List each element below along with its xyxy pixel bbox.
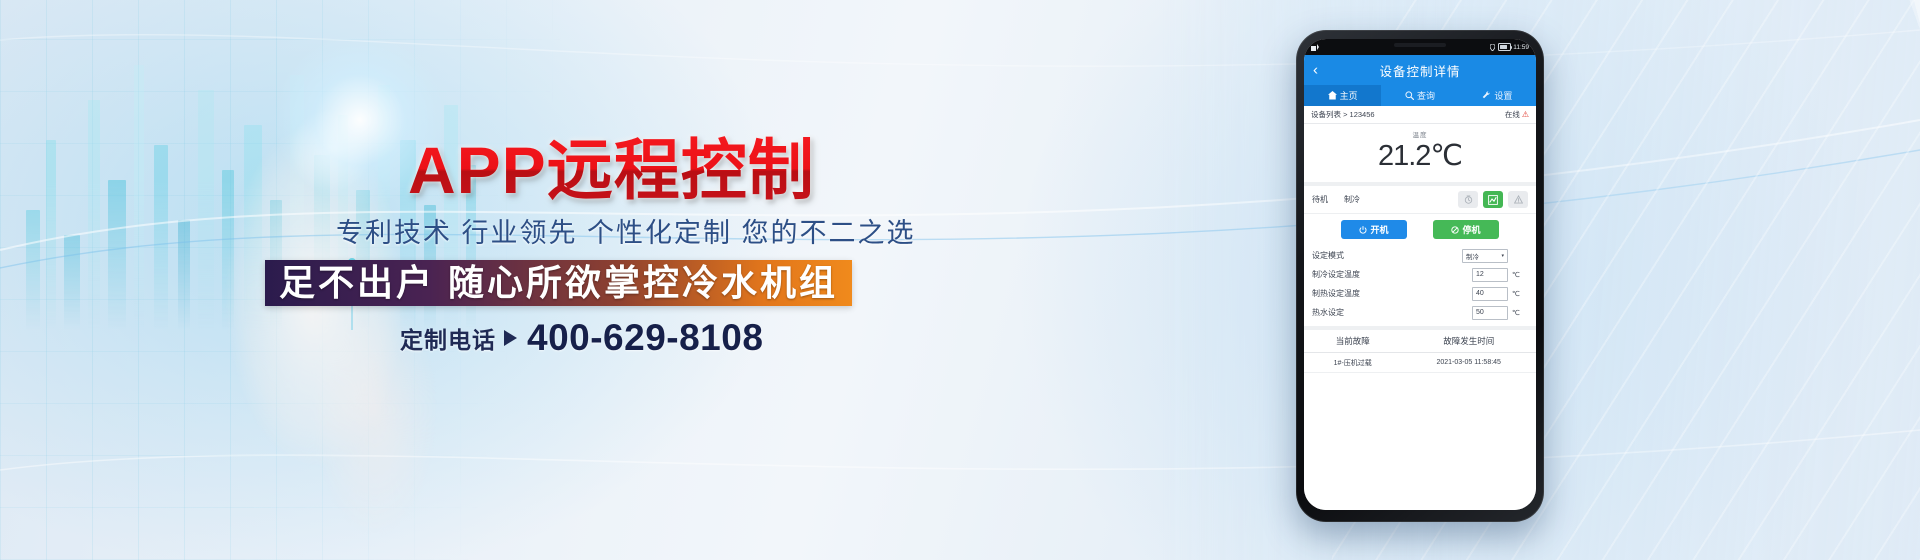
status-time: 11:59 <box>1513 44 1529 51</box>
setting-unit: ℃ <box>1508 309 1528 317</box>
timer-icon-button[interactable] <box>1458 191 1478 208</box>
chart-icon <box>1488 195 1498 205</box>
battery-icon <box>1498 43 1511 51</box>
heat-temp-input[interactable]: 40 <box>1472 287 1508 301</box>
setting-row-heat-temp: 制热设定温度 40 ℃ <box>1312 284 1528 303</box>
status-left <box>1311 44 1320 51</box>
setting-unit: ℃ <box>1508 290 1528 298</box>
fault-time: 2021-03-05 11:58:45 <box>1401 359 1536 366</box>
fault-col-time: 故障发生时间 <box>1401 335 1536 347</box>
power-off-button[interactable]: 停机 <box>1433 220 1499 239</box>
contact-cta: 定制电话 400-629-8108 <box>400 318 763 358</box>
setting-label: 制热设定温度 <box>1312 288 1472 299</box>
highlight-ribbon: 足不出户 随心所欲掌控冷水机组 <box>265 260 852 306</box>
device-status: 在线 ⚠ <box>1505 109 1529 120</box>
fault-table-header: 当前故障 故障发生时间 <box>1304 330 1536 353</box>
temperature-label: 温度 <box>1304 129 1536 139</box>
wrench-icon <box>1482 91 1491 100</box>
power-on-button[interactable]: 开机 <box>1341 220 1407 239</box>
breadcrumb[interactable]: 设备列表 > 123456 <box>1311 109 1375 120</box>
tab-query[interactable]: 查询 <box>1381 85 1458 106</box>
setting-row-hotwater: 热水设定 50 ℃ <box>1312 303 1528 322</box>
copy-block: APP远程控制 APP远程控制 专利技术 行业领先 个性化定制 您的不二之选 足… <box>0 0 980 560</box>
stop-icon <box>1451 226 1459 234</box>
status-badge: 在线 <box>1505 109 1520 120</box>
mode-select-value: 制冷 <box>1466 251 1479 261</box>
phone-mockup: 11:59 ‹ 设备控制详情 主页 查询 设置 <box>1296 30 1544 522</box>
mode-state: 制冷 <box>1344 194 1453 205</box>
warning-triangle-icon: ⚠ <box>1522 111 1529 119</box>
search-icon <box>1405 91 1414 100</box>
power-icon <box>1359 226 1367 234</box>
cool-temp-input[interactable]: 12 <box>1472 268 1508 282</box>
tab-query-label: 查询 <box>1417 89 1435 102</box>
page-title: APP远程控制 <box>408 134 815 206</box>
screen-title: 设备控制详情 <box>1379 61 1460 80</box>
temperature-card: 温度 21.2℃ <box>1304 124 1536 186</box>
tab-settings-label: 设置 <box>1494 89 1512 102</box>
setting-label: 热水设定 <box>1312 307 1472 318</box>
setting-label: 设定模式 <box>1312 250 1462 261</box>
breadcrumb-bar: 设备列表 > 123456 在线 ⚠ <box>1304 106 1536 124</box>
phone-number[interactable]: 400-629-8108 <box>527 318 763 358</box>
tab-settings[interactable]: 设置 <box>1459 85 1536 106</box>
chart-icon-button[interactable] <box>1483 191 1503 208</box>
run-state: 待机 <box>1312 194 1344 205</box>
temperature-value: 21.2℃ <box>1304 139 1536 173</box>
phone-earpiece <box>1394 43 1446 47</box>
ribbon-text: 足不出户 随心所欲掌控冷水机组 <box>279 263 838 303</box>
location-icon <box>1490 44 1495 51</box>
setting-row-mode: 设定模式 制冷 ▾ <box>1312 246 1528 265</box>
status-right: 11:59 <box>1490 43 1529 51</box>
hotwater-temp-input[interactable]: 50 <box>1472 306 1508 320</box>
table-row[interactable]: 1#-压机过载 2021-03-05 11:58:45 <box>1304 353 1536 373</box>
home-icon <box>1328 91 1337 100</box>
action-row: 开机 停机 <box>1304 214 1536 246</box>
phone-status-bar: 11:59 <box>1304 39 1536 55</box>
fault-col-name: 当前故障 <box>1304 335 1401 347</box>
signal-icon <box>1311 44 1320 51</box>
timer-icon <box>1464 195 1473 204</box>
tab-home-label: 主页 <box>1340 89 1358 102</box>
settings-list: 设定模式 制冷 ▾ 制冷设定温度 12 ℃ 制热设定温度 40 ℃ <box>1304 246 1536 330</box>
mode-select[interactable]: 制冷 ▾ <box>1462 249 1508 263</box>
power-on-label: 开机 <box>1370 223 1388 236</box>
state-row: 待机 制冷 <box>1304 186 1536 214</box>
promo-banner: APP远程控制 APP远程控制 专利技术 行业领先 个性化定制 您的不二之选 足… <box>0 0 1920 560</box>
power-off-label: 停机 <box>1462 223 1480 236</box>
chevron-left-icon[interactable]: ‹ <box>1313 63 1318 78</box>
phone-nav-bar: ‹ 设备控制详情 <box>1304 55 1536 85</box>
tab-bar: 主页 查询 设置 <box>1304 85 1536 106</box>
arrow-right-icon <box>504 330 517 346</box>
tab-home[interactable]: 主页 <box>1304 85 1381 106</box>
phone-screen: 11:59 ‹ 设备控制详情 主页 查询 设置 <box>1304 39 1536 510</box>
setting-label: 制冷设定温度 <box>1312 269 1472 280</box>
subtitle: 专利技术 行业领先 个性化定制 您的不二之选 <box>336 216 916 250</box>
alarm-icon-button[interactable] <box>1508 191 1528 208</box>
chevron-down-icon: ▾ <box>1501 253 1504 259</box>
setting-row-cool-temp: 制冷设定温度 12 ℃ <box>1312 265 1528 284</box>
alarm-triangle-icon <box>1514 195 1523 204</box>
fault-table: 当前故障 故障发生时间 1#-压机过载 2021-03-05 11:58:45 <box>1304 330 1536 510</box>
cta-label: 定制电话 <box>400 321 496 355</box>
setting-unit: ℃ <box>1508 271 1528 279</box>
fault-name: 1#-压机过载 <box>1304 358 1401 368</box>
